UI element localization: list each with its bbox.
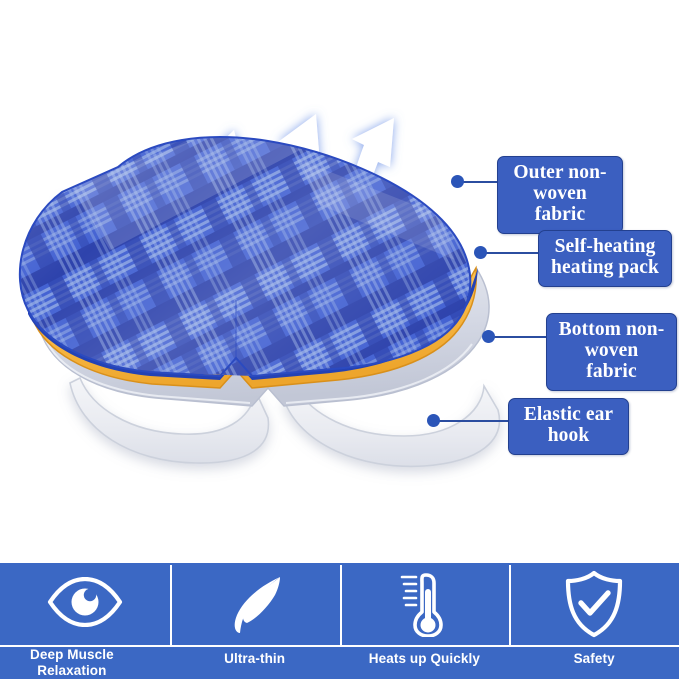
feature-bar: Deep Muscle Relaxation Ultra-thin <box>0 563 679 679</box>
callout-self-heating-pack[interactable]: Self-heating heating pack <box>538 230 672 287</box>
feature-label: Safety <box>574 651 615 667</box>
feature-item-heats-up-quickly[interactable]: Heats up Quickly <box>340 563 510 679</box>
feature-item-deep-muscle-relaxation[interactable]: Deep Muscle Relaxation <box>0 563 170 679</box>
leader-line-elastic <box>434 420 510 422</box>
eye-icon <box>0 563 170 641</box>
leader-line-bottom <box>489 336 548 338</box>
callout-outer-non-woven-fabric[interactable]: Outer non- woven fabric <box>497 156 623 234</box>
anchor-dot-elastic <box>427 414 440 427</box>
feature-item-safety[interactable]: Safety <box>509 563 679 679</box>
callout-bottom-non-woven-fabric[interactable]: Bottom non- woven fabric <box>546 313 677 391</box>
product-diagram-page: Outer non- woven fabric Self-heating hea… <box>0 0 679 679</box>
leaf-icon <box>170 563 340 645</box>
shield-check-icon <box>509 563 679 645</box>
anchor-dot-outer <box>451 175 464 188</box>
anchor-dot-bottom <box>482 330 495 343</box>
leader-line-outer <box>459 181 499 183</box>
feature-item-ultra-thin[interactable]: Ultra-thin <box>170 563 340 679</box>
thermometer-icon <box>340 563 510 645</box>
leader-line-self-heating <box>481 252 540 254</box>
callout-elastic-ear-hook[interactable]: Elastic ear hook <box>508 398 629 455</box>
anchor-dot-self-heating <box>474 246 487 259</box>
feature-bar-divider <box>0 645 679 647</box>
feature-label: Ultra-thin <box>224 651 285 667</box>
feature-label: Heats up Quickly <box>369 651 480 667</box>
feature-label: Deep Muscle Relaxation <box>30 647 114 679</box>
